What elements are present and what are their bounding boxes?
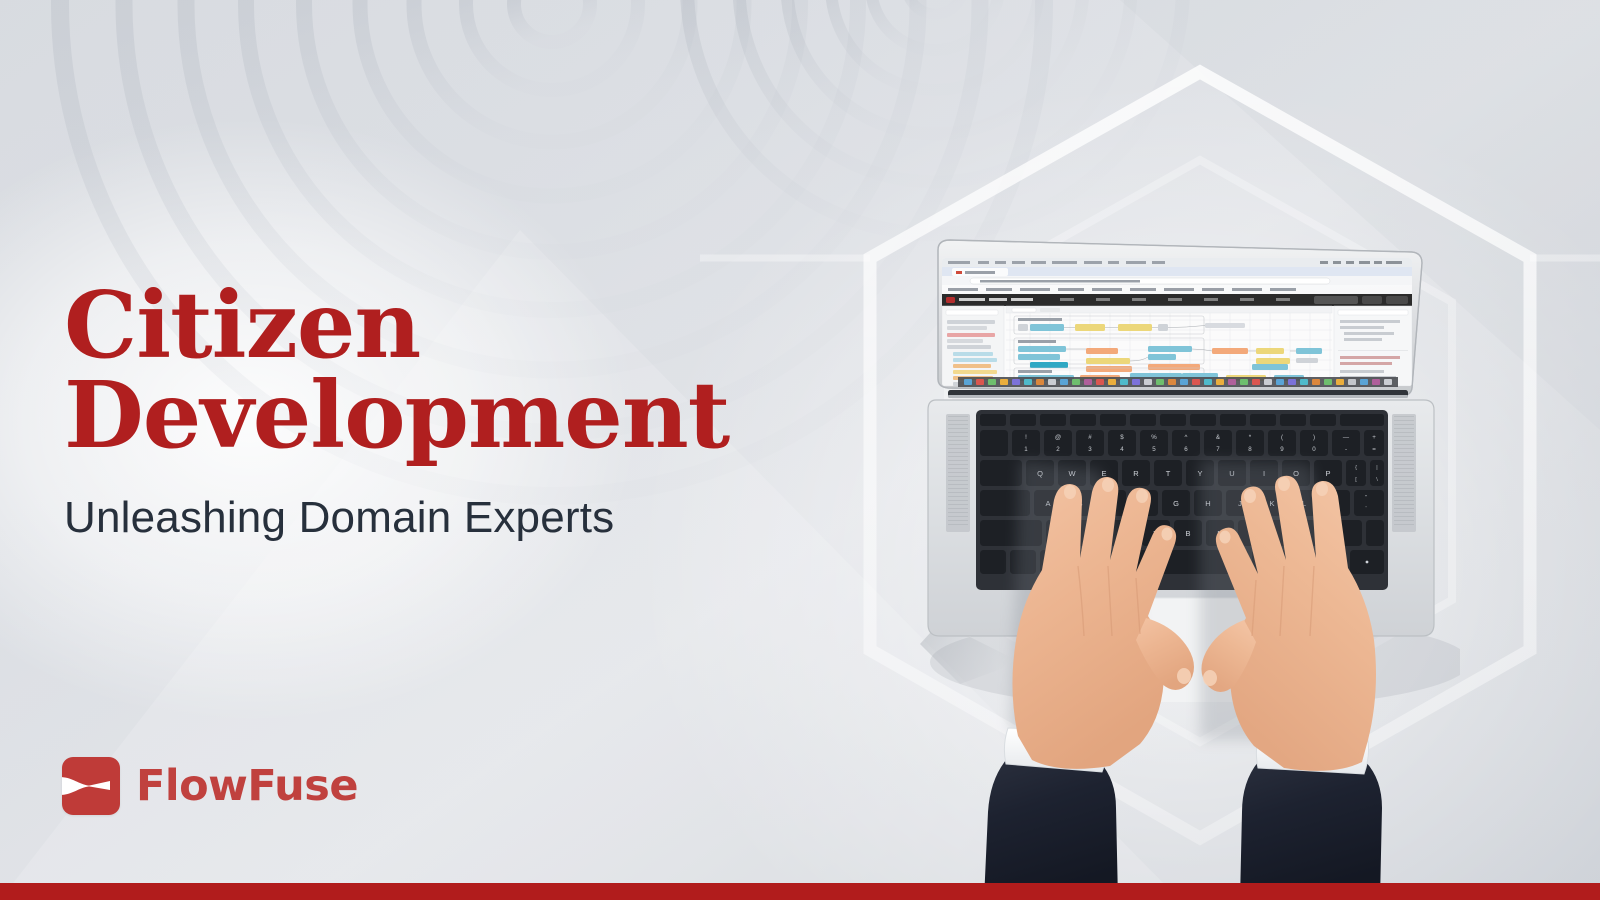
text-block: Citizen Development Unleashing Domain Ex… xyxy=(64,280,824,543)
hands-typing-photo xyxy=(950,440,1450,900)
node-red-flow-editor xyxy=(942,258,1412,386)
right-suit-sleeve xyxy=(1240,760,1382,900)
bottom-accent-bar xyxy=(0,883,1600,900)
brand-logo-lockup[interactable]: FlowFuse xyxy=(62,757,358,815)
brand-name: FlowFuse xyxy=(136,765,358,808)
banner-root: !1 @2 #3 $4 %5 ^6 &7 *8 (9 )0 —- += xyxy=(0,0,1600,900)
concentric-rings-secondary-icon xyxy=(687,0,1183,234)
page-title: Citizen Development xyxy=(64,280,824,460)
page-subtitle: Unleashing Domain Experts xyxy=(64,494,824,542)
left-suit-sleeve xyxy=(984,760,1118,900)
flowfuse-merge-icon xyxy=(62,757,120,815)
